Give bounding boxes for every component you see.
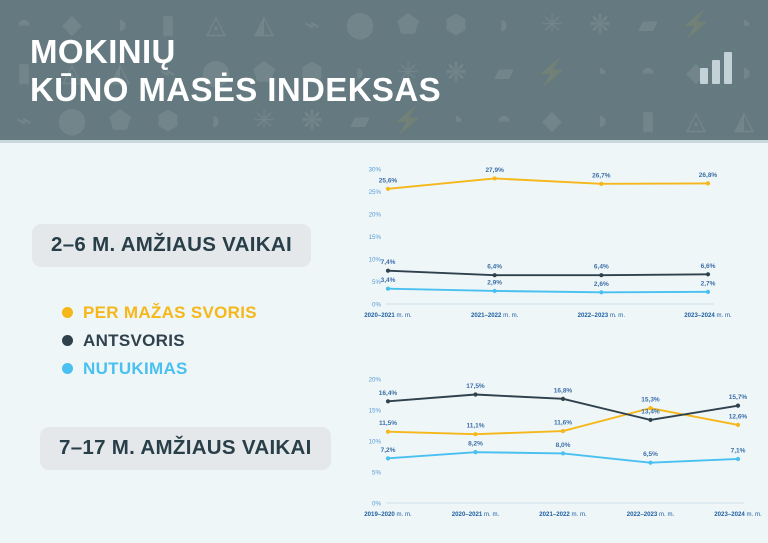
data-point-label: 27,9%: [485, 167, 504, 174]
data-point-label: 12,6%: [729, 413, 748, 420]
pattern-glyph: ▮: [624, 96, 672, 143]
data-point-label: 6,6%: [701, 263, 716, 270]
x-axis-tick-label: 2022–2023 m. m.: [578, 312, 626, 319]
pattern-glyph: ◔: [720, 0, 768, 48]
data-point-label: 7,4%: [381, 259, 396, 266]
y-axis-tick-label: 0%: [372, 301, 381, 308]
pattern-glyph: ◓: [480, 96, 528, 143]
y-axis-tick-label: 5%: [372, 469, 381, 476]
pattern-glyph: ⚡: [528, 48, 576, 96]
x-axis-tick-label: 2023–2024 m. m.: [684, 312, 732, 319]
pattern-glyph: ◗: [480, 0, 528, 48]
group-label-7-17: 7–17 M. AMŽIAUS VAIKAI: [40, 427, 331, 470]
data-point-label: 16,4%: [379, 390, 398, 397]
chart-legend: PER MAŽAS SVORIS ANTSVORIS NUTUKIMAS: [62, 300, 257, 384]
data-point-label: 8,0%: [556, 442, 571, 449]
series-point: [386, 187, 390, 191]
series-point: [706, 181, 710, 185]
x-axis-tick-label: 2020–2021 m. m.: [452, 511, 500, 518]
legend-dot-overweight: [62, 335, 73, 346]
pattern-glyph: ◬: [672, 96, 720, 143]
y-axis-tick-label: 25%: [369, 189, 382, 196]
pattern-glyph: ▰: [480, 48, 528, 96]
y-axis-tick-label: 15%: [369, 234, 382, 241]
y-axis-tick-label: 15%: [369, 407, 382, 414]
data-point-label: 7,2%: [381, 447, 396, 454]
series-point: [736, 423, 740, 427]
data-point-label: 26,7%: [592, 172, 611, 179]
x-axis-tick-label: 2021–2022 m. m.: [539, 511, 587, 518]
header-divider: [0, 140, 768, 143]
legend-dot-underweight: [62, 307, 73, 318]
data-point-label: 13,4%: [641, 408, 660, 415]
data-point-label: 6,5%: [643, 451, 658, 458]
data-point-label: 15,3%: [641, 397, 660, 404]
y-axis-tick-label: 10%: [369, 256, 382, 263]
pattern-glyph: ▰: [624, 0, 672, 48]
pattern-glyph: ◑: [576, 96, 624, 143]
y-axis-tick-label: 0%: [372, 500, 381, 507]
data-point-label: 6,4%: [487, 264, 502, 271]
series-point: [561, 429, 565, 433]
data-point-label: 26,8%: [699, 172, 718, 179]
data-point-label: 16,8%: [554, 387, 573, 394]
data-point-label: 15,7%: [729, 394, 748, 401]
pattern-glyph: ◔: [576, 48, 624, 96]
legend-item-underweight: PER MAŽAS SVORIS: [62, 300, 257, 325]
data-point-label: 7,1%: [731, 447, 746, 454]
group-label-2-6: 2–6 M. AMŽIAUS VAIKAI: [32, 224, 311, 267]
chart-svg-2-6: 0%5%10%15%20%25%30%2020–2021 m. m.2021–2…: [356, 155, 760, 330]
series-point: [561, 451, 565, 455]
pattern-glyph: ◆: [528, 96, 576, 143]
data-point-label: 6,4%: [594, 264, 609, 271]
series-point: [473, 450, 477, 454]
series-line: [388, 271, 708, 276]
x-axis-tick-label: 2021–2022 m. m.: [471, 312, 519, 319]
y-axis-tick-label: 10%: [369, 438, 382, 445]
legend-item-overweight: ANTSVORIS: [62, 328, 257, 353]
chart-svg-7-17: 0%5%10%15%20%2019–2020 m. m.2020–2021 m.…: [356, 363, 760, 531]
legend-label-underweight: PER MAŽAS SVORIS: [83, 303, 257, 323]
series-point: [386, 456, 390, 460]
series-line: [388, 289, 708, 293]
series-point: [599, 290, 603, 294]
legend-dot-obesity: [62, 363, 73, 374]
series-point: [386, 399, 390, 403]
data-point-label: 8,2%: [468, 441, 483, 448]
data-point-label: 11,6%: [554, 420, 572, 427]
pattern-glyph: ❋: [576, 0, 624, 48]
series-point: [648, 461, 652, 465]
y-axis-tick-label: 20%: [369, 211, 382, 218]
series-point: [599, 182, 603, 186]
series-point: [706, 272, 710, 276]
series-point: [386, 269, 390, 273]
series-point: [648, 418, 652, 422]
series-line: [388, 178, 708, 188]
data-point-label: 2,7%: [701, 280, 716, 287]
series-point: [493, 289, 497, 293]
x-axis-tick-label: 2022–2023 m. m.: [627, 511, 675, 518]
series-point: [386, 430, 390, 434]
series-point: [386, 287, 390, 291]
page-header: ◓◆◑▮◬◭⌁⬤⬟⬢◗✳❋▰⚡◔▮◬◭⌁⬤⬟⬢◗✳❋▰⚡◔◓◆◑⌁⬤⬟⬢◗✳❋▰…: [0, 0, 768, 143]
y-axis-tick-label: 30%: [369, 166, 382, 173]
line-chart-age-2-6: 0%5%10%15%20%25%30%2020–2021 m. m.2021–2…: [356, 155, 760, 330]
series-point: [561, 397, 565, 401]
series-point: [473, 392, 477, 396]
series-point: [706, 290, 710, 294]
x-axis-tick-label: 2019–2020 m. m.: [364, 511, 412, 518]
page-title: MOKINIŲ KŪNO MASĖS INDEKSAS: [30, 33, 441, 108]
x-axis-tick-label: 2020–2021 m. m.: [364, 312, 412, 319]
legend-item-obesity: NUTUKIMAS: [62, 356, 257, 381]
data-point-label: 3,4%: [381, 277, 396, 284]
pattern-glyph: ◓: [624, 48, 672, 96]
series-point: [473, 432, 477, 436]
line-chart-age-7-17: 0%5%10%15%20%2019–2020 m. m.2020–2021 m.…: [356, 363, 760, 531]
pattern-glyph: ✳: [528, 0, 576, 48]
data-point-label: 17,5%: [466, 383, 485, 390]
x-axis-tick-label: 2023–2024 m. m.: [714, 511, 762, 518]
data-point-label: 11,5%: [379, 420, 397, 427]
data-point-label: 25,6%: [379, 177, 398, 184]
data-point-label: 2,6%: [594, 281, 609, 288]
series-point: [493, 273, 497, 277]
pattern-glyph: ⚡: [672, 0, 720, 48]
series-point: [599, 273, 603, 277]
data-point-label: 2,9%: [487, 279, 502, 286]
series-point: [493, 176, 497, 180]
pattern-glyph: ◭: [720, 96, 768, 143]
legend-label-overweight: ANTSVORIS: [83, 331, 185, 351]
series-point: [736, 457, 740, 461]
bar-chart-icon: [700, 52, 734, 84]
legend-label-obesity: NUTUKIMAS: [83, 359, 188, 379]
y-axis-tick-label: 20%: [369, 376, 382, 383]
data-point-label: 11,1%: [466, 423, 484, 430]
series-point: [736, 404, 740, 408]
